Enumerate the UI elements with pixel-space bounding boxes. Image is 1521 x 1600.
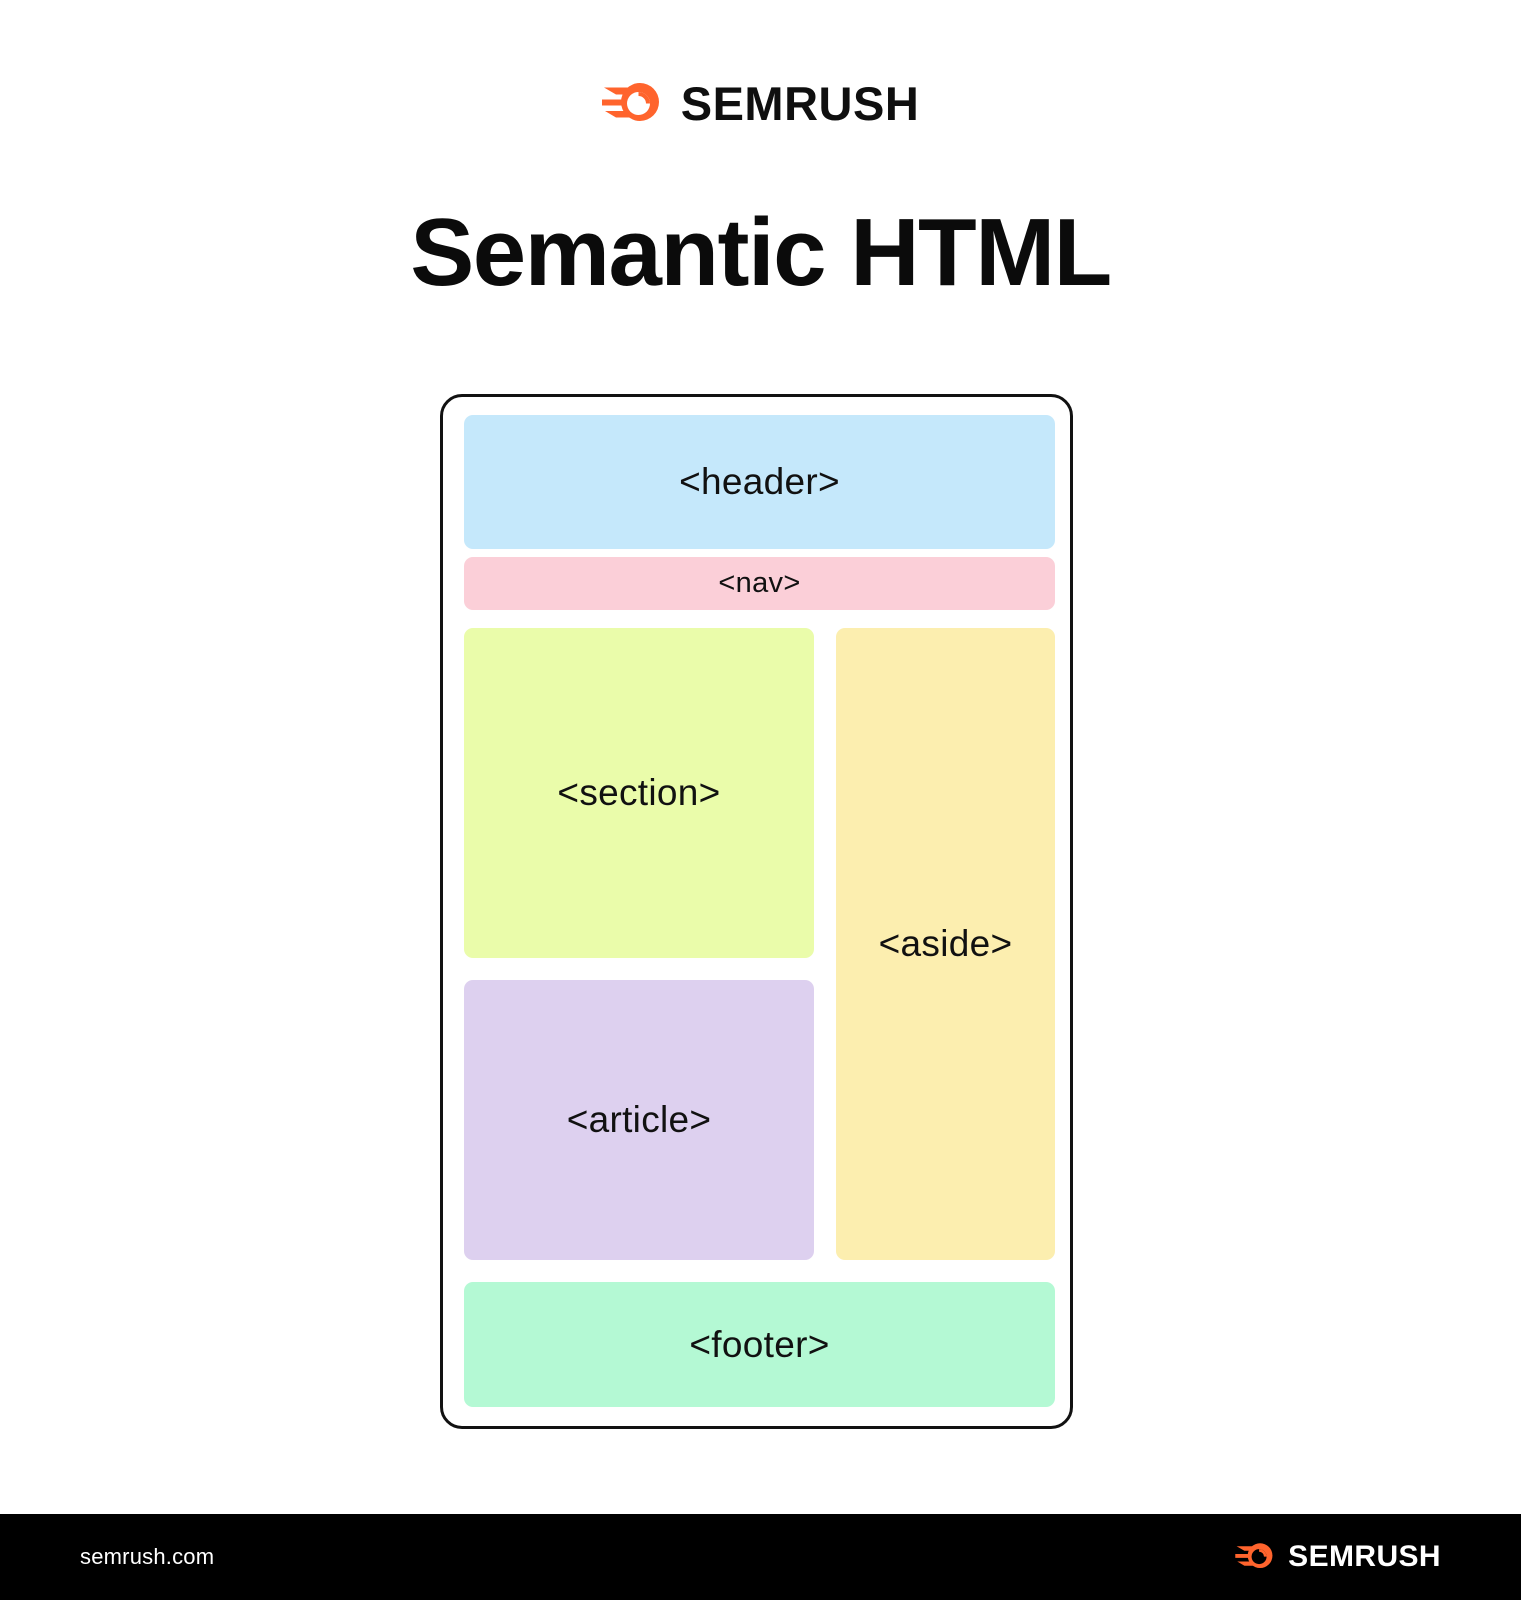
top-brand-logo: SEMRUSH xyxy=(0,78,1521,129)
brand-wordmark: SEMRUSH xyxy=(1288,1542,1441,1572)
bottom-bar: semrush.com SEMRUSH xyxy=(0,1514,1521,1600)
diagram-block-article: <article> xyxy=(464,980,814,1260)
page-title: Semantic HTML xyxy=(0,198,1521,308)
site-url-label: semrush.com xyxy=(80,1544,214,1570)
diagram-block-header: <header> xyxy=(464,415,1055,549)
diagram-block-nav: <nav> xyxy=(464,557,1055,610)
diagram-block-section: <section> xyxy=(464,628,814,958)
bottom-brand-logo: SEMRUSH xyxy=(1235,1540,1441,1575)
diagram-block-nav-label: <nav> xyxy=(718,567,800,600)
diagram-block-footer-label: <footer> xyxy=(689,1324,829,1366)
diagram-block-aside: <aside> xyxy=(836,628,1055,1260)
brand-wordmark: SEMRUSH xyxy=(681,80,920,127)
diagram-block-section-label: <section> xyxy=(557,772,720,814)
semantic-html-layout-diagram: <header> <nav> <section> <aside> <articl… xyxy=(440,394,1073,1429)
semrush-comet-icon xyxy=(1235,1540,1276,1575)
diagram-block-aside-label: <aside> xyxy=(879,923,1013,965)
diagram-block-header-label: <header> xyxy=(679,461,840,503)
diagram-block-footer: <footer> xyxy=(464,1282,1055,1407)
semrush-comet-icon xyxy=(602,78,664,129)
diagram-block-article-label: <article> xyxy=(567,1099,712,1141)
